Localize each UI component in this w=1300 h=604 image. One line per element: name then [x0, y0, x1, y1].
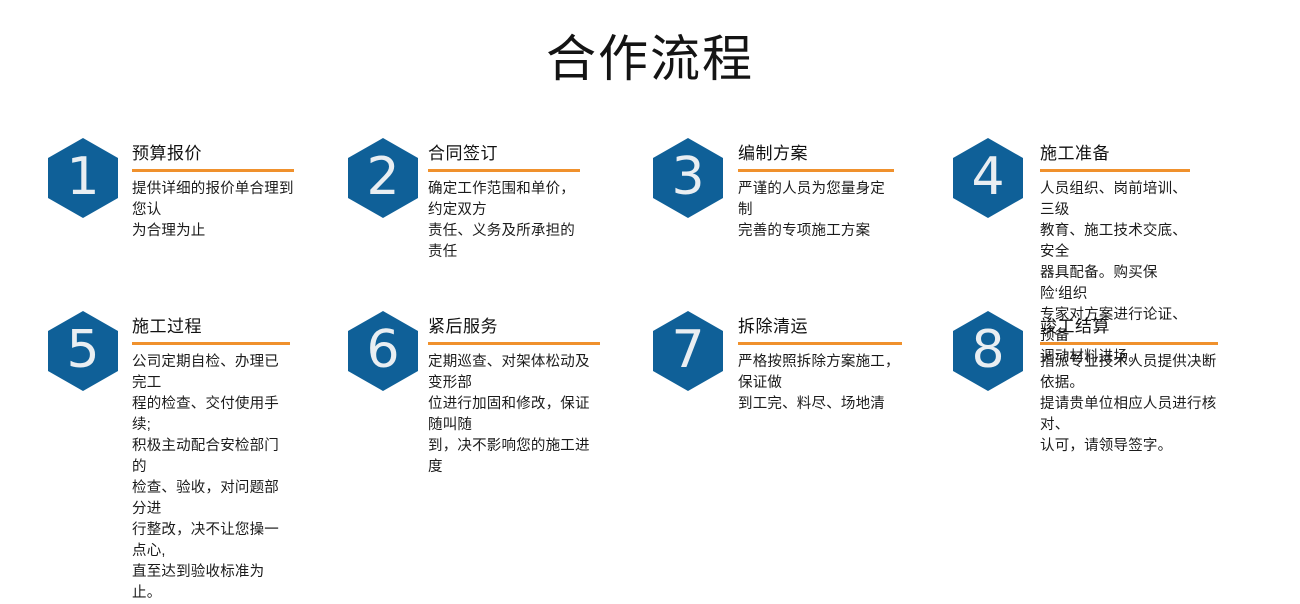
step-description-1: 提供详细的报价单合理到您认 为合理为止 [132, 179, 294, 242]
step-title-8: 竣工结算 [1040, 316, 1218, 338]
hexagon-badge-2: 2 [348, 138, 418, 218]
step-underline-5 [132, 342, 290, 345]
step-number-7: 7 [671, 324, 704, 378]
step-number-6: 6 [366, 324, 399, 378]
step-description-8: 指派专业技术人员提供决断依据。 提请贵单位相应人员进行核对、 认可，请领导签字。 [1040, 352, 1218, 457]
step-underline-8 [1040, 342, 1218, 345]
step-content-7: 拆除清运 严格按照拆除方案施工，保证做 到工完、料尽、场地清 [738, 316, 902, 415]
step-title-4: 施工准备 [1040, 143, 1190, 165]
step-title-5: 施工过程 [132, 316, 290, 338]
hexagon-badge-8: 8 [953, 311, 1023, 391]
hexagon-badge-4: 4 [953, 138, 1023, 218]
step-number-2: 2 [366, 151, 399, 205]
step-number-8: 8 [971, 324, 1004, 378]
step-underline-6 [428, 342, 600, 345]
step-description-6: 定期巡查、对架体松动及变形部 位进行加固和修改，保证随叫随 到，决不影响您的施工… [428, 352, 600, 478]
step-underline-1 [132, 169, 294, 172]
step-description-7: 严格按照拆除方案施工，保证做 到工完、料尽、场地清 [738, 352, 902, 415]
step-content-1: 预算报价 提供详细的报价单合理到您认 为合理为止 [132, 143, 294, 242]
hexagon-badge-1: 1 [48, 138, 118, 218]
step-number-1: 1 [66, 151, 99, 205]
step-number-3: 3 [671, 151, 704, 205]
step-content-8: 竣工结算 指派专业技术人员提供决断依据。 提请贵单位相应人员进行核对、 认可，请… [1040, 316, 1218, 457]
step-underline-4 [1040, 169, 1190, 172]
step-underline-2 [428, 169, 580, 172]
step-content-6: 紧后服务 定期巡查、对架体松动及变形部 位进行加固和修改，保证随叫随 到，决不影… [428, 316, 600, 478]
step-description-3: 严谨的人员为您量身定制 完善的专项施工方案 [738, 179, 894, 242]
step-content-2: 合同签订 确定工作范围和单价，约定双方 责任、义务及所承担的责任 [428, 143, 580, 263]
cooperation-process-infographic: { "page": { "title": "合作流程", "accent_col… [0, 0, 1300, 532]
hexagon-badge-3: 3 [653, 138, 723, 218]
hexagon-badge-5: 5 [48, 311, 118, 391]
step-content-5: 施工过程 公司定期自检、办理已完工 程的检查、交付使用手续; 积极主动配合安检部… [132, 316, 290, 604]
step-description-2: 确定工作范围和单价，约定双方 责任、义务及所承担的责任 [428, 179, 580, 263]
step-title-2: 合同签订 [428, 143, 580, 165]
hexagon-badge-7: 7 [653, 311, 723, 391]
step-content-3: 编制方案 严谨的人员为您量身定制 完善的专项施工方案 [738, 143, 894, 242]
step-number-5: 5 [66, 324, 99, 378]
step-title-3: 编制方案 [738, 143, 894, 165]
page-title: 合作流程 [0, 28, 1300, 90]
step-title-6: 紧后服务 [428, 316, 600, 338]
step-description-5: 公司定期自检、办理已完工 程的检查、交付使用手续; 积极主动配合安检部门的 检查… [132, 352, 290, 604]
hexagon-badge-6: 6 [348, 311, 418, 391]
step-underline-7 [738, 342, 902, 345]
step-title-7: 拆除清运 [738, 316, 902, 338]
step-number-4: 4 [971, 151, 1004, 205]
step-underline-3 [738, 169, 894, 172]
step-title-1: 预算报价 [132, 143, 294, 165]
